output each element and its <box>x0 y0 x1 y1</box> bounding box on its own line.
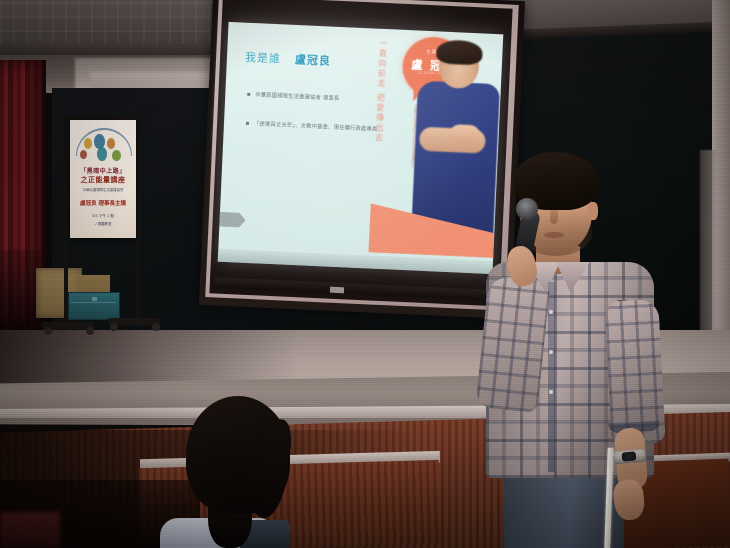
caster-wheel <box>86 327 94 335</box>
projected-slide: 我是誰盧冠良 中華民國視障生活重建協會 理事長 「逆境百丈光芒」、文教中基金、現… <box>218 22 504 274</box>
caster-wheel <box>44 327 52 335</box>
poster-stand-pole-left <box>64 118 68 326</box>
poster-date: 5/5 下午 1 點 <box>74 214 132 219</box>
poster-title-line2: 之正能量講座 <box>74 175 132 185</box>
slide-title-label: 我是誰 <box>245 51 282 66</box>
speaker-nose <box>550 208 558 224</box>
wristwatch-face <box>622 451 637 461</box>
slide-portrait-hair <box>436 39 483 65</box>
caster-wheel <box>152 323 160 331</box>
floor-corner <box>0 512 60 548</box>
shirt-button <box>549 390 553 394</box>
poster-balloon <box>107 138 115 149</box>
poster-title-line1: 「黑暗中上路」 <box>74 166 132 175</box>
speaker-mouth <box>544 232 564 238</box>
photo-scene: 「黑暗中上路」 之正能量講座 中華民國視障生活重建協會 盧冠良 理事長主講 5/… <box>0 0 730 548</box>
crate-handle <box>92 297 97 301</box>
poster-subtitle: 中華民國視障生活重建協會 <box>74 187 132 192</box>
poster-speaker: 盧冠良 理事長主講 <box>74 199 132 207</box>
speaker-ear <box>588 202 598 220</box>
slide-title-name: 盧冠良 <box>295 53 332 68</box>
shirt-button <box>549 310 553 314</box>
caster-wheel <box>110 323 118 331</box>
poster-stand-pole-right <box>136 112 140 326</box>
slide-bullet: 中華民國視障生活重建協會 理事長 <box>255 91 339 102</box>
poster-balloon <box>80 150 87 159</box>
event-poster: 「黑暗中上路」 之正能量講座 中華民國視障生活重建協會 盧冠良 理事長主講 5/… <box>70 120 136 238</box>
poster-balloon <box>97 147 107 161</box>
slide-title: 我是誰盧冠良 <box>245 49 332 69</box>
slide-portrait-forearm <box>449 124 480 145</box>
speaker-person <box>470 150 670 548</box>
poster-balloon <box>84 138 92 149</box>
poster-place: ノ視聽教室 <box>74 221 132 226</box>
slide-vertical-headline: 一直向前走 把愛傳出去 <box>373 39 389 144</box>
slide-bullet: 「逆境百丈光芒」、文教中基金、現任職行政處專員 <box>254 120 378 133</box>
shirt-button <box>549 350 553 354</box>
slide-arrow-tab <box>218 212 246 228</box>
poster-balloon <box>112 150 121 161</box>
crate-seam <box>70 302 116 303</box>
screen-brand-label <box>330 287 344 294</box>
